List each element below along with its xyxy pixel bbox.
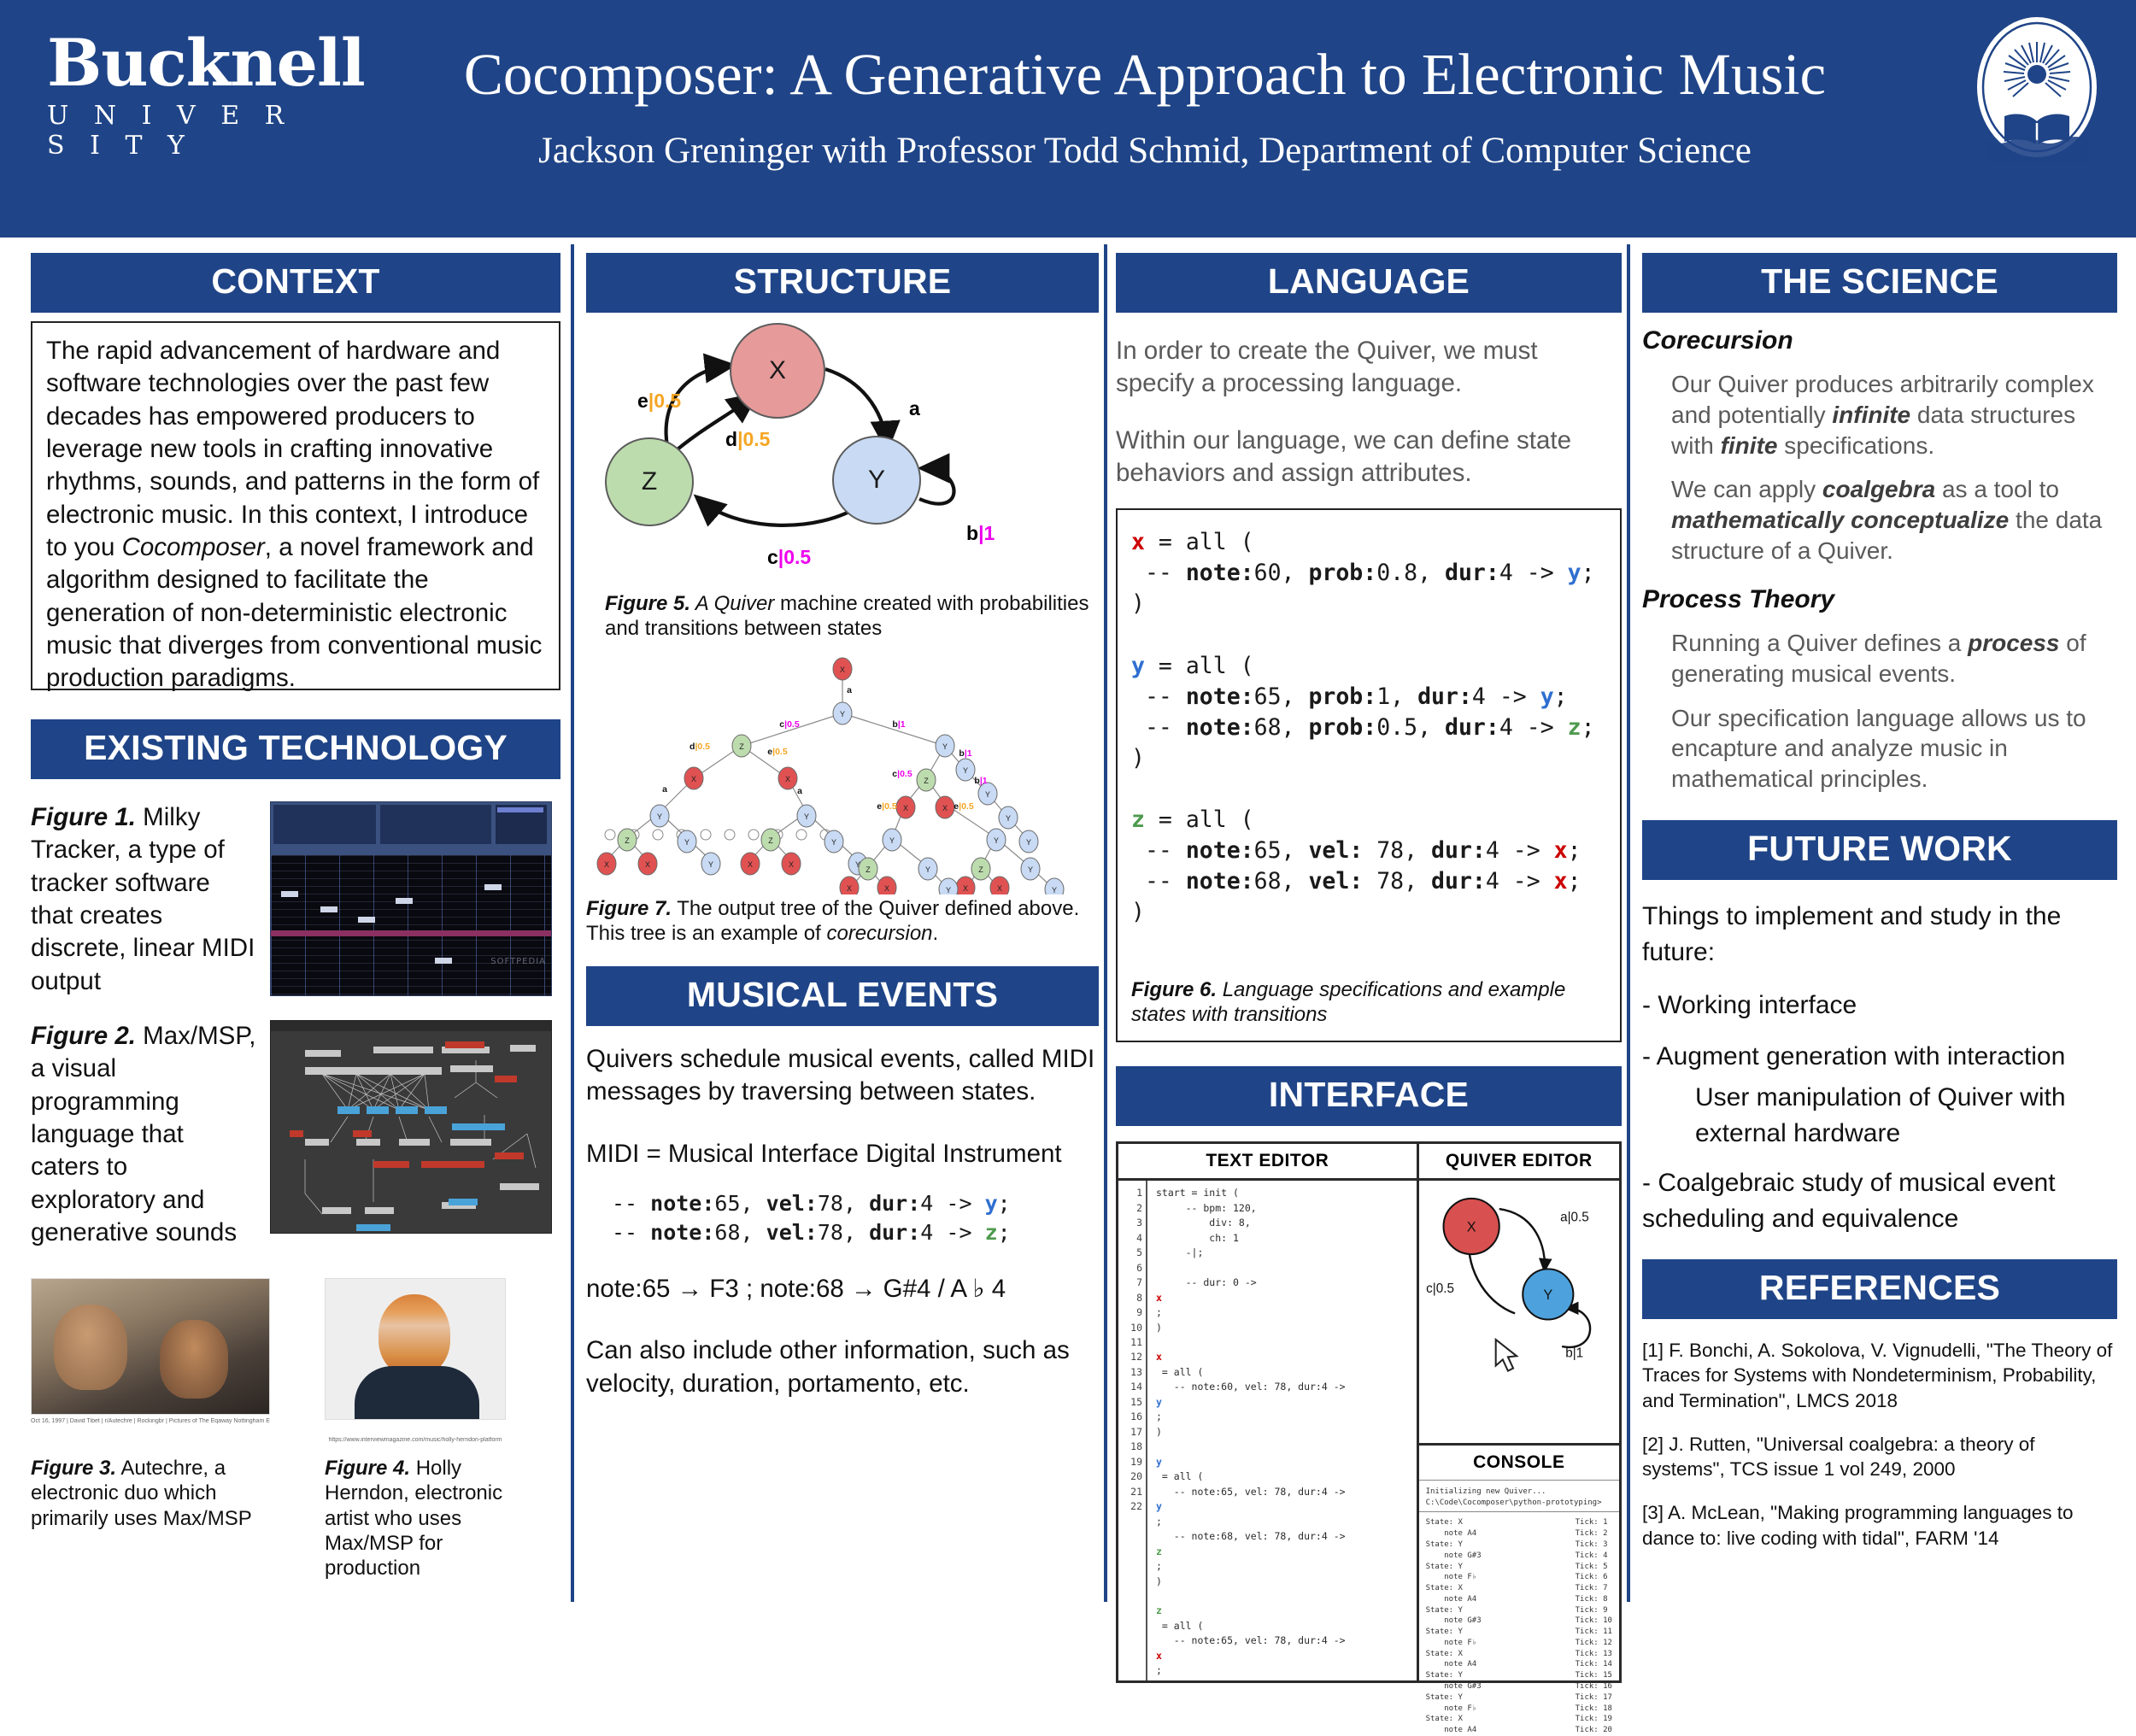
svg-text:X: X [997,884,1002,893]
figure-3-4-row: Oct 16, 1997 | David Tibet | r/Autechre … [31,1278,560,1444]
svg-text:c|0.5: c|0.5 [1426,1281,1454,1296]
future-work-intro: Things to implement and study in the fut… [1642,899,2117,971]
section-header-existing-technology: EXISTING TECHNOLOGY [31,719,560,779]
svg-text:b|1: b|1 [1565,1346,1583,1361]
svg-text:a: a [847,685,852,695]
logo-university-text: U N I V E R S I T Y [47,101,329,161]
svg-text:a|0.5: a|0.5 [1560,1211,1589,1225]
reference-item-2: [2] J. Rutten, "Universal coalgebra: a t… [1642,1432,2117,1482]
svg-text:Y: Y [889,836,895,845]
tracker-pattern-grid [271,855,551,995]
svg-text:e|0.5: e|0.5 [877,801,897,812]
svg-text:d|0.5: d|0.5 [690,742,710,752]
svg-text:Y: Y [708,860,713,869]
context-body-box: The rapid advancement of hardware and so… [31,321,560,690]
quiver-editor-svg: X Y a|0.5 c|0.5 b|1 [1419,1181,1619,1443]
figure-4-caption: Figure 4. Holly Herndon, electronic arti… [325,1456,506,1581]
figure-3-credit: Oct 16, 1997 | David Tibet | r/Autechre … [31,1418,270,1425]
section-header-musical-events: MUSICAL EVENTS [586,966,1099,1026]
svg-text:Z: Z [978,865,983,874]
musical-events-p2: MIDI = Musical Interface Digital Instrum… [586,1138,1099,1170]
figure-2-image [270,1020,560,1249]
figure-4-label: Figure 4. [325,1457,410,1480]
svg-text:Y: Y [804,812,809,821]
svg-text:X: X [884,884,889,893]
column-divider-2 [1104,244,1107,1602]
poster-authors: Jackson Greninger with Professor Todd Sc… [316,130,1974,172]
future-work-item-1: - Working interface [1642,988,2117,1023]
figure-1-caption: Figure 1. Milky Tracker, a type of track… [31,801,270,998]
svg-text:X: X [785,775,790,783]
svg-text:X: X [1466,1220,1476,1235]
autechre-photo [31,1278,270,1415]
svg-text:c|0.5: c|0.5 [779,719,800,730]
quiver-edge-label-a: a [909,397,920,420]
tracker-playhead [271,930,551,936]
figure-6-code-box: x = all ( -- note:60, prob:0.8, dur:4 ->… [1116,508,1622,1042]
science-p2-a: We can apply [1671,476,1822,502]
holly-herndon-photo [325,1278,506,1420]
language-p2: Within our language, we can define state… [1116,425,1622,490]
tracker-toolbar [271,802,551,855]
svg-text:Y: Y [831,838,836,847]
figure-3-label: Figure 3. [31,1457,116,1480]
logo-wordmark: Bucknell [47,32,329,94]
reference-item-1: [1] F. Bonchi, A. Sokolova, V. Vignudell… [1642,1338,2117,1413]
science-p1-finite: finite [1721,432,1778,459]
science-p1-e: specifications. [1777,432,1934,459]
output-tree-svg: XYZ XXY ZYX XYY ZYX XY YYY YYZ XXY ZYX X… [586,654,1099,894]
future-work-item-2: - Augment generation with interaction [1642,1039,2117,1075]
svg-text:Y: Y [657,812,662,821]
figure-2-caption: Figure 2. Max/MSP, a visual programming … [31,1020,270,1249]
svg-text:Y: Y [963,766,968,775]
svg-text:Y: Y [985,790,990,799]
quiver-node-z[interactable]: Z [605,437,694,526]
svg-text:Y: Y [994,836,999,845]
svg-text:Y: Y [1026,838,1031,847]
column-language: LANGUAGE In order to create the Quiver, … [1116,253,1622,1683]
quiver-edge-label-e: e|0.5 [637,390,681,413]
svg-text:X: X [645,860,650,869]
figure-7-tail: . [933,922,939,945]
figure-6-caption: Figure 6. Language specifications and ex… [1131,977,1608,1028]
svg-text:Y: Y [925,865,930,874]
svg-text:Y: Y [840,710,845,718]
future-work-item-3: User manipulation of Quiver with externa… [1695,1080,2117,1152]
quiver-edge-label-d: d|0.5 [725,428,770,451]
poster-title: Cocomposer: A Generative Approach to Ele… [316,41,1974,108]
section-header-context: CONTEXT [31,253,560,313]
svg-text:Y: Y [1052,886,1057,894]
svg-text:X: X [840,666,845,674]
column-science: THE SCIENCE Corecursion Our Quiver produ… [1642,253,2117,1551]
section-header-language: LANGUAGE [1116,253,1622,313]
musical-events-p4: Can also include other information, such… [586,1334,1099,1400]
figure-5-caption: Figure 5. A Quiver machine created with … [586,591,1099,642]
column-context: CONTEXT The rapid advancement of hardwar… [31,253,560,1581]
science-paragraph-4: Our specification language allows us to … [1671,703,2117,795]
editor-code-area[interactable]: start = init ( -- bpm: 120, div: 8, ch: … [1147,1181,1351,1680]
section-header-structure: STRUCTURE [586,253,1099,313]
bucknell-logo: Bucknell U N I V E R S I T Y [47,32,329,161]
svg-text:Z: Z [924,777,929,785]
maxmsp-toolbar [271,1021,551,1031]
svg-text:b|1: b|1 [892,719,905,730]
svg-text:Z: Z [625,836,630,845]
figure-7-emphasis: corecursion [826,922,932,945]
section-header-science: THE SCIENCE [1642,253,2117,313]
science-p3-process: process [1968,630,2059,656]
svg-text:X: X [963,884,968,893]
figure-3-block: Oct 16, 1997 | David Tibet | r/Autechre … [31,1278,270,1444]
maxmsp-screenshot [270,1020,552,1234]
quiver-editor-pane[interactable]: QUIVER EDITOR X Y [1419,1144,1619,1680]
science-p2-c: as a tool to [1935,476,2059,502]
svg-text:Y: Y [942,742,948,751]
quiver-edge-label-b: b|1 [966,522,995,545]
musical-events-p3: note:65 → F3 ; note:68 → G#4 / A ♭ 4 [586,1273,1099,1305]
quiver-node-y[interactable]: Y [832,436,921,525]
svg-text:Z: Z [768,836,773,845]
text-editor-pane[interactable]: TEXT EDITOR 1234567891011 12131415161718… [1118,1144,1419,1680]
console-tick-log: Tick: 1 Tick: 2 Tick: 3 Tick: 4 Tick: 5 … [1576,1517,1612,1735]
figure-2-row: Figure 2. Max/MSP, a visual programming … [31,1020,560,1249]
science-subheading-corecursion: Corecursion [1642,326,2117,355]
console-log-rows: State: X note A4 State: Y note G#3 State… [1419,1511,1619,1735]
console-pane: CONSOLE Initializing new Quiver... C:\Co… [1419,1443,1619,1716]
interface-mockup: TEXT EDITOR 1234567891011 12131415161718… [1116,1141,1622,1683]
figure-5-emphasis: A Quiver [690,592,774,615]
svg-text:b|1: b|1 [974,776,987,786]
reference-item-3: [3] A. McLean, "Making programming langu… [1642,1500,2117,1551]
svg-text:e|0.5: e|0.5 [767,747,788,757]
science-p1-infinite: infinite [1832,402,1910,428]
figure-7-caption: Figure 7. The output tree of the Quiver … [586,896,1099,947]
svg-text:Z: Z [866,865,871,874]
figure-5-quiver-diagram: X Z Y e|0.5 d|0.5 a c|0.5 b|1 [586,318,1099,588]
line-number-gutter: 1234567891011 1213141516171819202122 [1118,1181,1147,1680]
musical-events-code: -- note:65, vel:78, dur:4 -> y; -- note:… [586,1189,1099,1247]
science-subheading-process-theory: Process Theory [1642,585,2117,614]
science-p2-coalgebra: coalgebra [1822,476,1935,502]
svg-text:X: X [748,860,753,869]
quiver-edge-label-c: c|0.5 [767,546,811,569]
svg-text:X: X [942,804,948,812]
text-editor-title: TEXT EDITOR [1118,1144,1417,1181]
svg-text:c|0.5: c|0.5 [892,769,912,779]
quiver-editor-canvas[interactable]: X Y a|0.5 c|0.5 b|1 [1419,1181,1619,1443]
figure-7-output-tree: XYZ XXY ZYX XYY ZYX XY YYY YYZ XXY ZYX X… [586,654,1099,894]
figure-3-caption: Figure 3. Autechre, a electronic duo whi… [31,1456,270,1581]
figure-2-label: Figure 2. [31,1022,136,1050]
figure-1-image: SOFTPEDIA [270,801,560,998]
svg-text:X: X [691,775,696,783]
section-header-interface: INTERFACE [1116,1066,1622,1126]
language-p1: In order to create the Quiver, we must s… [1116,335,1622,401]
console-init-block: Initializing new Quiver... C:\Code\Cocom… [1419,1480,1619,1512]
console-state-log: State: X note A4 State: Y note G#3 State… [1426,1517,1482,1735]
figure-4-credit: https://www.interviewmagazine.com/music/… [325,1437,506,1444]
header-banner: Bucknell U N I V E R S I T Y Cocomposer:… [0,0,2136,238]
figure-1-label: Figure 1. [31,803,136,831]
figure-7-label: Figure 7. [586,897,672,920]
svg-text:X: X [604,860,609,869]
bucknell-seal-icon [1962,12,2112,162]
svg-text:Y: Y [684,838,690,847]
science-p2-conceptualize: mathematically conceptualize [1671,507,2009,533]
science-paragraph-1: Our Quiver produces arbitrarily complex … [1671,369,2117,460]
figure-1-text: Milky Tracker, a type of tracker softwar… [31,803,255,995]
figure-3-4-captions: Figure 3. Autechre, a electronic duo whi… [31,1456,560,1581]
svg-text:a: a [797,786,802,796]
maxmsp-patch-graph [271,1031,552,1234]
svg-text:Y: Y [1543,1287,1552,1303]
future-work-item-4: - Coalgebraic study of musical event sch… [1642,1165,2117,1237]
figure-6-label: Figure 6. [1131,978,1217,1001]
svg-text:e|0.5: e|0.5 [954,801,974,812]
column-divider-1 [571,244,574,1602]
svg-text:Y: Y [946,886,951,894]
svg-text:b|1: b|1 [959,748,971,759]
context-text-part1: The rapid advancement of hardware and so… [46,337,539,561]
musical-events-p1: Quivers schedule musical events, called … [586,1043,1099,1109]
console-title: CONSOLE [1419,1446,1619,1480]
text-editor-body[interactable]: 1234567891011 1213141516171819202122 sta… [1118,1181,1417,1680]
section-header-future-work: FUTURE WORK [1642,820,2117,880]
figure-1-row: Figure 1. Milky Tracker, a type of track… [31,801,560,998]
svg-text:Z: Z [739,742,744,751]
console-init-text: Initializing new Quiver... C:\Code\Cocom… [1419,1481,1619,1512]
quiver-editor-title: QUIVER EDITOR [1419,1144,1619,1181]
science-paragraph-2: We can apply coalgebra as a tool to math… [1671,474,2117,566]
mouse-cursor-icon [1495,1340,1516,1371]
figure-4-block: https://www.interviewmagazine.com/music/… [325,1278,506,1444]
column-structure: STRUCTURE X Z Y e|0.5 d|0.5 a c|0.5 b|1 [586,253,1099,1400]
svg-text:X: X [789,860,794,869]
section-header-references: REFERENCES [1642,1259,2117,1319]
science-p3-a: Running a Quiver defines a [1671,630,1968,656]
science-paragraph-3: Running a Quiver defines a process of ge… [1671,628,2117,689]
quiver-node-x[interactable]: X [730,323,825,419]
figure-2-text: Max/MSP, a visual programming language t… [31,1022,255,1246]
svg-text:X: X [903,804,908,812]
svg-text:Y: Y [1006,814,1011,823]
svg-text:X: X [847,884,852,893]
figure-5-label: Figure 5. [605,592,690,615]
column-divider-3 [1627,244,1630,1602]
context-text-emphasis: Cocomposer [122,533,265,561]
milkytracker-screenshot: SOFTPEDIA [270,801,552,996]
language-code: x = all ( -- note:60, prob:0.8, dur:4 ->… [1131,527,1608,927]
svg-text:Y: Y [1028,865,1033,874]
svg-text:Y: Y [855,860,860,869]
svg-text:a: a [662,784,667,795]
